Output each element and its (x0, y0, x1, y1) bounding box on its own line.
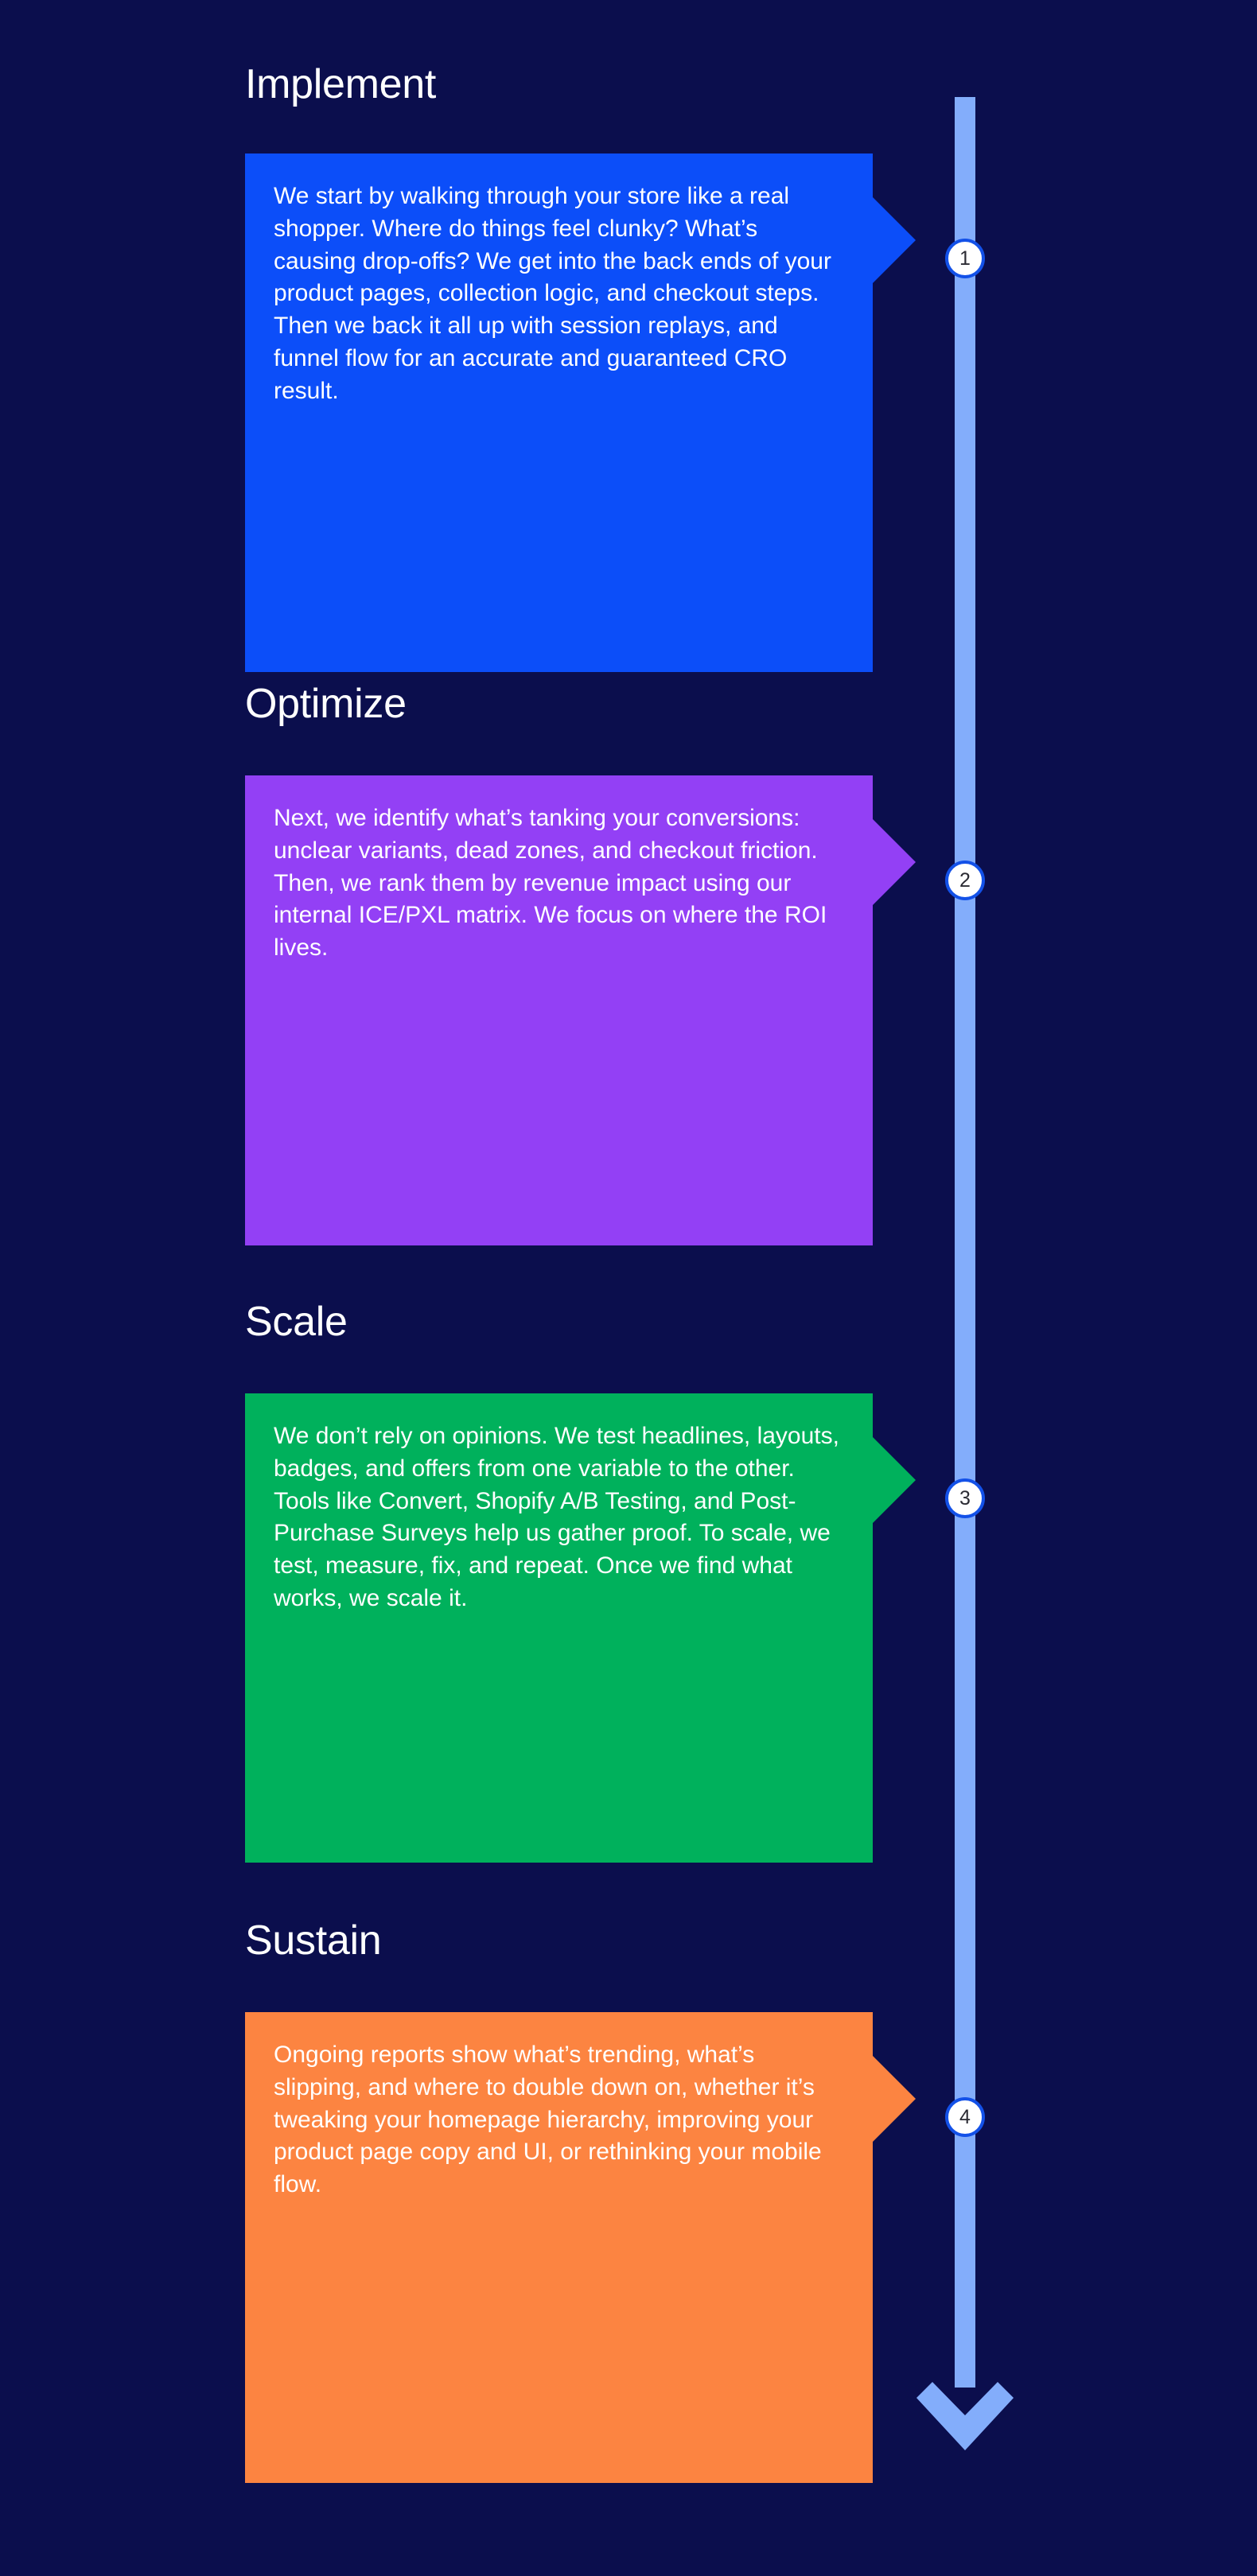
timeline-rail (955, 97, 975, 2388)
timeline-infographic: Implement We start by walking through yo… (0, 0, 1257, 2576)
timeline-arrow-down-icon (915, 2350, 1015, 2454)
step-3-title: Scale (245, 1298, 348, 1346)
step-2-body: Next, we identify what’s tanking your co… (274, 802, 844, 965)
step-1-card-pointer (873, 197, 916, 283)
step-4-body: Ongoing reports show what’s trending, wh… (274, 2039, 844, 2201)
timeline-marker-1[interactable]: 1 (945, 239, 985, 278)
step-1-body: We start by walking through your store l… (274, 181, 844, 408)
timeline-marker-3[interactable]: 3 (945, 1478, 985, 1518)
timeline-marker-4[interactable]: 4 (945, 2097, 985, 2137)
step-4-card-pointer (873, 2056, 916, 2142)
timeline-marker-4-label: 4 (959, 2108, 971, 2127)
step-4-title: Sustain (245, 1917, 381, 1964)
step-3-card: We don’t rely on opinions. We test headl… (245, 1393, 873, 1863)
step-2-card: Next, we identify what’s tanking your co… (245, 775, 873, 1245)
step-3-card-pointer (873, 1437, 916, 1523)
timeline-marker-1-label: 1 (959, 249, 971, 269)
timeline-marker-2[interactable]: 2 (945, 861, 985, 900)
step-1-card: We start by walking through your store l… (245, 153, 873, 672)
timeline-marker-3-label: 3 (959, 1489, 971, 1509)
step-2-card-pointer (873, 819, 916, 905)
step-2-title: Optimize (245, 680, 407, 728)
timeline-marker-2-label: 2 (959, 871, 971, 891)
step-1-title: Implement (245, 60, 436, 108)
step-4-card: Ongoing reports show what’s trending, wh… (245, 2012, 873, 2483)
step-3-body: We don’t rely on opinions. We test headl… (274, 1420, 844, 1615)
